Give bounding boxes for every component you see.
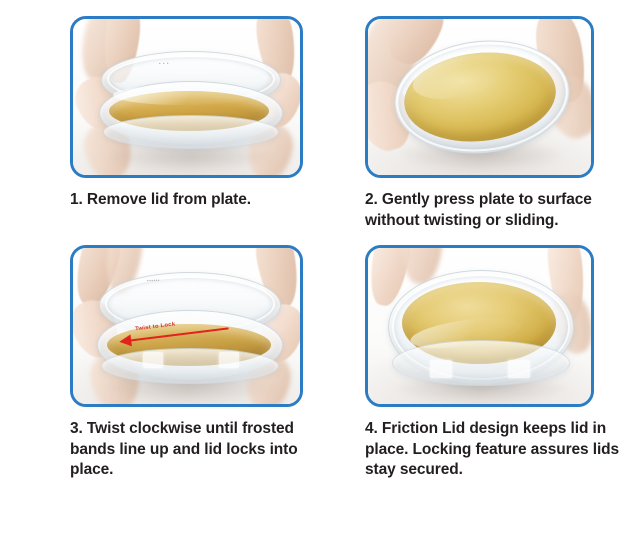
step-3-photo: •••••• Twist to Lock [73, 248, 300, 404]
lid-embossed-text: •••••• [147, 278, 160, 284]
step-1-caption: 1. Remove lid from plate. [70, 190, 322, 211]
step-2-caption: 2. Gently press plate to surface without… [365, 190, 623, 231]
plate-base-skirt [101, 348, 279, 384]
step-4-photo [368, 248, 591, 404]
frosted-band [143, 352, 163, 368]
step-2-photo [368, 19, 591, 175]
step-4-photo-frame [365, 245, 594, 407]
step-2-photo-frame [365, 16, 594, 178]
lid-embossed-text: • • • [159, 61, 169, 67]
step-card-1: • • • 1. Remove lid from plate. [70, 16, 343, 231]
step-card-4: 4. Friction Lid design keeps lid in plac… [365, 245, 638, 481]
plate-base-skirt [392, 340, 570, 386]
plate-base-skirt [103, 115, 279, 149]
frosted-band [508, 360, 530, 378]
steps-grid: • • • 1. Remove lid from plate. [70, 16, 640, 481]
step-4-caption: 4. Friction Lid design keeps lid in plac… [365, 419, 623, 481]
frosted-band [219, 352, 239, 368]
instruction-sheet: • • • 1. Remove lid from plate. [0, 0, 640, 534]
step-1-photo: • • • [73, 19, 300, 175]
step-3-photo-frame: •••••• Twist to Lock [70, 245, 303, 407]
frosted-band [430, 360, 452, 378]
step-3-caption: 3. Twist clockwise until frosted bands l… [70, 419, 322, 481]
step-card-3: •••••• Twist to Lock 3. Twist clockwise … [70, 245, 343, 481]
step-1-photo-frame: • • • [70, 16, 303, 178]
step-card-2: 2. Gently press plate to surface without… [365, 16, 638, 231]
